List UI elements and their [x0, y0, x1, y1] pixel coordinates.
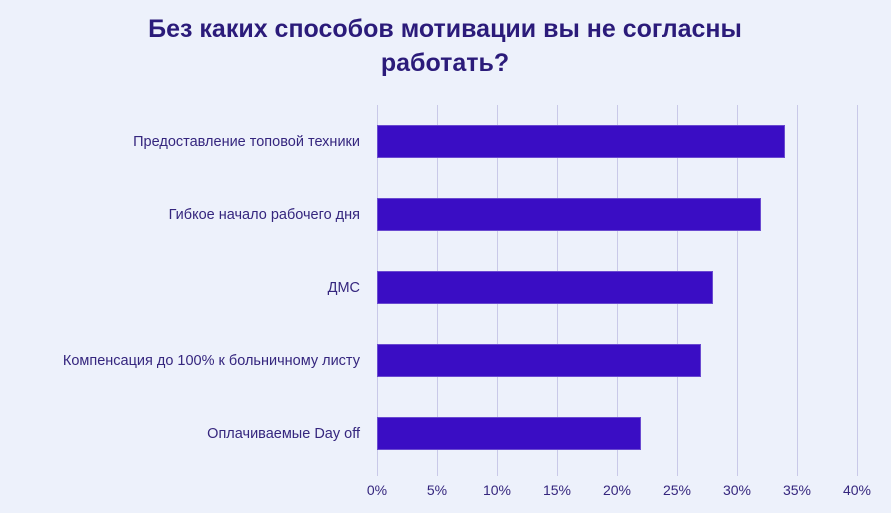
chart-title: Без каких способов мотивации вы не согла…: [120, 12, 770, 80]
bar-row: [377, 397, 857, 470]
x-tick-label: 5%: [427, 482, 447, 498]
bar-row: [377, 105, 857, 178]
category-label-item: Предоставление топовой техники: [0, 105, 368, 178]
x-tick-label: 25%: [663, 482, 691, 498]
x-tick-label: 15%: [543, 482, 571, 498]
category-axis-labels: Предоставление топовой техникиГибкое нач…: [0, 105, 368, 470]
bar[interactable]: [377, 198, 761, 231]
bar-chart: Без каких способов мотивации вы не согла…: [0, 0, 891, 513]
x-tick-mark: [437, 470, 438, 476]
x-tick-label: 10%: [483, 482, 511, 498]
x-tick-mark: [557, 470, 558, 476]
gridline: [857, 105, 858, 470]
bar[interactable]: [377, 125, 785, 158]
x-tick-label: 30%: [723, 482, 751, 498]
x-tick-mark: [677, 470, 678, 476]
category-label-text: Компенсация до 100% к больничному листу: [63, 353, 368, 369]
x-tick-mark: [377, 470, 378, 476]
bar-row: [377, 324, 857, 397]
category-label-item: Компенсация до 100% к больничному листу: [0, 324, 368, 397]
category-label-text: Оплачиваемые Day off: [207, 426, 368, 442]
x-tick-label: 40%: [843, 482, 871, 498]
plot-area: [377, 105, 857, 470]
x-tick-mark: [497, 470, 498, 476]
bar-row: [377, 178, 857, 251]
bar[interactable]: [377, 271, 713, 304]
x-tick-label: 20%: [603, 482, 631, 498]
bar[interactable]: [377, 417, 641, 450]
category-label-text: Предоставление топовой техники: [133, 134, 368, 150]
x-tick-mark: [857, 470, 858, 476]
x-tick-label: 0%: [367, 482, 387, 498]
x-tick-mark: [737, 470, 738, 476]
x-axis: 0%5%10%15%20%25%30%35%40%: [377, 470, 857, 510]
x-tick-mark: [797, 470, 798, 476]
category-label-text: Гибкое начало рабочего дня: [169, 207, 368, 223]
x-tick-mark: [617, 470, 618, 476]
category-label-item: ДМС: [0, 251, 368, 324]
category-label-text: ДМС: [328, 280, 368, 296]
bar-row: [377, 251, 857, 324]
bar[interactable]: [377, 344, 701, 377]
x-tick-label: 35%: [783, 482, 811, 498]
category-label-item: Гибкое начало рабочего дня: [0, 178, 368, 251]
category-label-item: Оплачиваемые Day off: [0, 397, 368, 470]
